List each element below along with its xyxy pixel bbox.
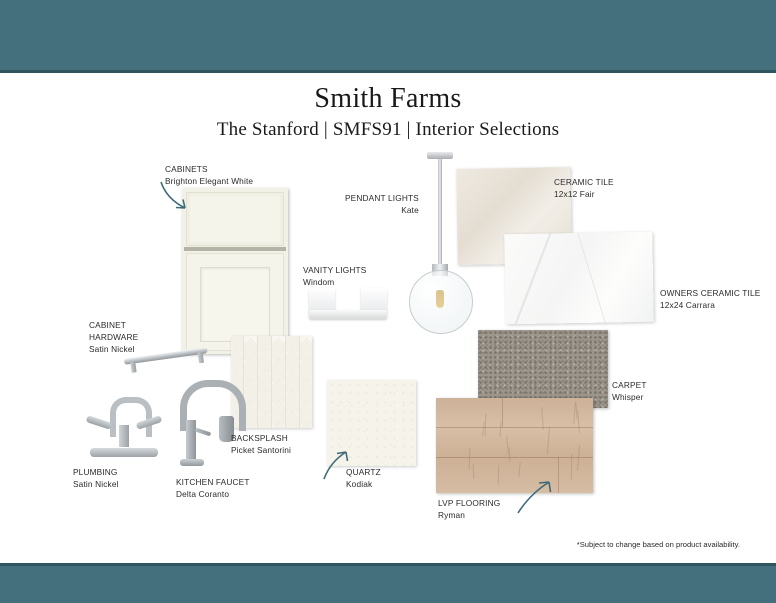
lvp-plank-joint [558,457,559,493]
quartz-swatch [327,380,416,466]
label-quartz: QUARTZ Kodiak [346,466,381,490]
selection-board: Smith Farms The Stanford | SMFS91 | Inte… [0,0,776,600]
label-cabinets: CABINETS Brighton Elegant White [165,163,253,187]
footnote: *Subject to change based on product avai… [577,540,740,549]
vanity-shade-right [361,288,387,312]
vanity-light-bar [309,310,387,319]
label-backsplash: BACKSPLASH Picket Santorini [231,432,291,456]
lvp-grain-line [473,464,475,479]
label-kitchen-faucet: KITCHEN FAUCET Delta Coranto [176,476,250,500]
kitchen-faucet-column [186,420,196,460]
lvp-plank-seam [436,457,593,458]
lvp-plank-joint [502,398,503,427]
label-vanity-lights: VANITY LIGHTS Windom [303,264,366,288]
lav-base-plate [90,448,158,457]
cabinet-drawer-front [186,192,284,246]
lvp-grain-line [547,426,550,454]
lvp-grain-line [498,465,500,485]
kitchen-faucet-base [180,459,204,466]
label-carpet: CARPET Whisper [612,379,647,403]
owners-ceramic-tile-swatch [504,232,654,325]
lavatory-faucet-image [86,395,162,457]
lvp-grain-line [469,448,471,470]
lvp-plank-seam [436,427,593,428]
cabinet-door-image [182,188,288,354]
lvp-grain-line [519,462,521,477]
pendant-light-image [409,152,471,332]
lav-column [119,425,129,447]
page-subtitle: The Stanford | SMFS91 | Interior Selecti… [0,119,776,141]
header-band [0,0,776,73]
label-pendant-lights: PENDANT LIGHTS Kate [345,192,419,216]
pendant-canopy [427,152,453,159]
lvp-grain-line [506,436,509,455]
page-title: Smith Farms [0,84,776,113]
label-owners-ceramic-tile: OWNERS CERAMIC TILE 12x24 Carrara [660,287,760,311]
label-cabinet-hardware: CABINET HARDWARE Satin Nickel [89,319,138,355]
lvp-grain-line [570,454,572,480]
pendant-bulb [436,290,444,308]
lvp-grain-line [577,445,580,471]
label-plumbing: PLUMBING Satin Nickel [73,466,119,490]
carpet-swatch [478,330,608,408]
title-block: Smith Farms The Stanford | SMFS91 | Inte… [0,84,776,141]
label-ceramic-tile: CERAMIC TILE 12x12 Fair [554,176,614,200]
cabinet-shaker-panel [200,267,270,342]
footer-band [0,563,776,603]
lav-handle-left [86,415,113,430]
lvp-flooring-swatch [436,398,593,493]
vanity-light-image [305,288,391,328]
pendant-rod [438,159,442,267]
lvp-grain-line [484,414,485,436]
cabinet-reveal [184,247,286,251]
vanity-shade-left [309,288,335,312]
lav-spout [110,397,152,437]
label-lvp-flooring: LVP FLOORING Ryman [438,497,500,521]
